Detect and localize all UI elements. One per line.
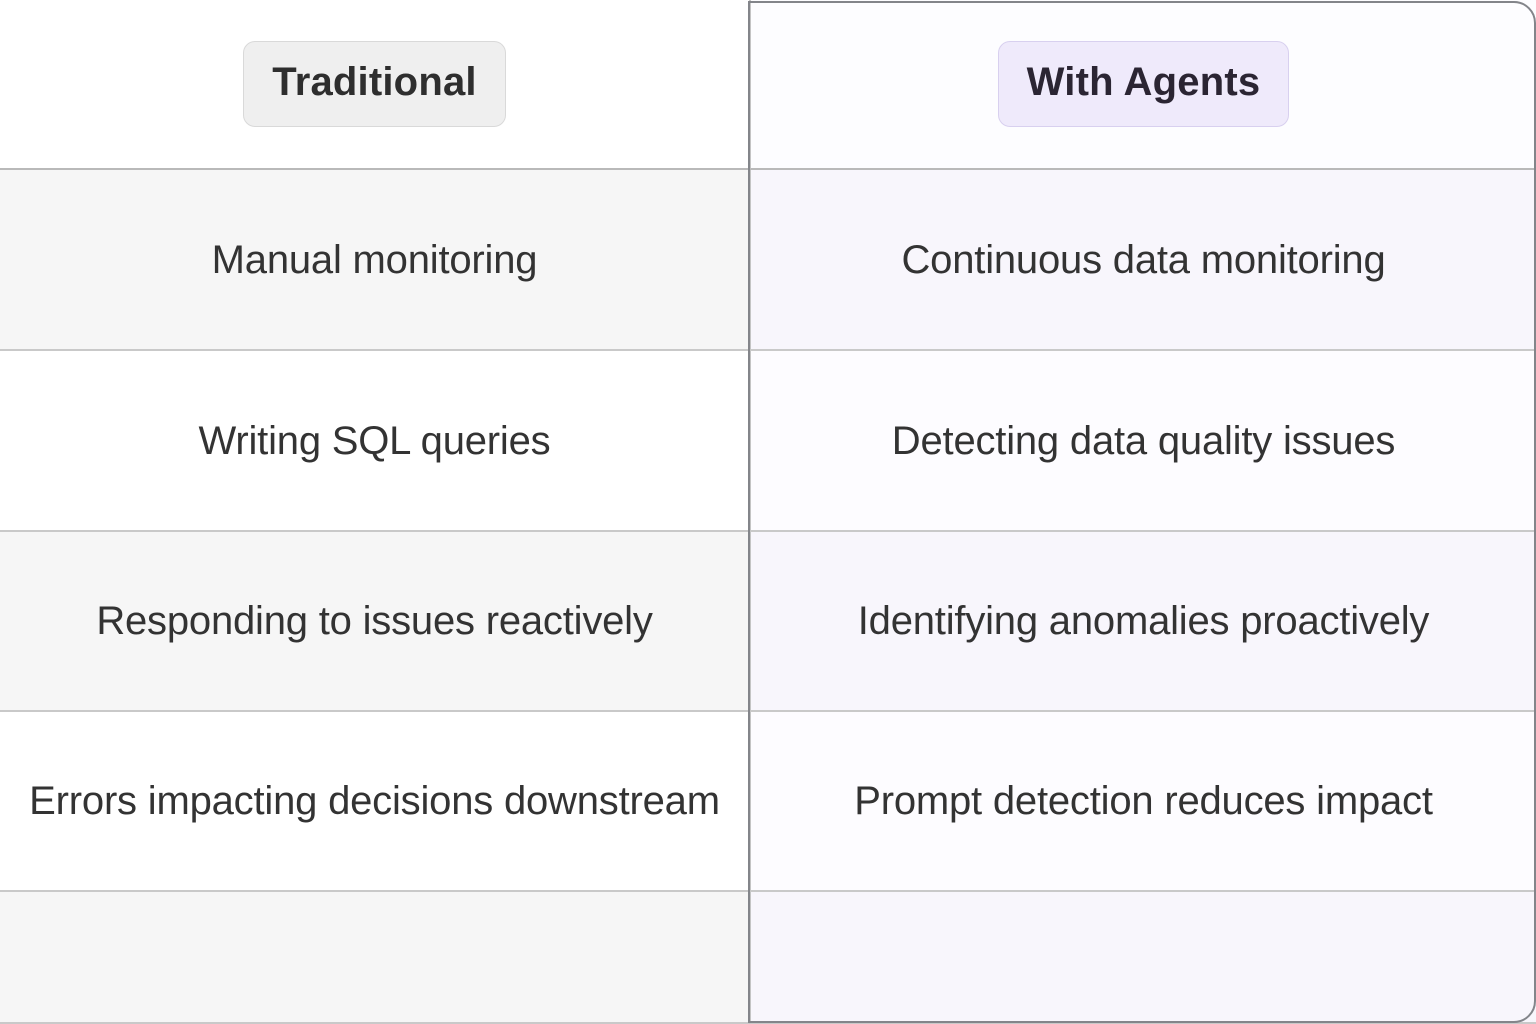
column-badge-traditional[interactable]: Traditional <box>243 41 505 127</box>
table-header-cell-traditional: Traditional <box>0 0 749 170</box>
table-grid: Traditional With Agents Manual monitorin… <box>0 0 1536 1024</box>
cell-with-agents-2: Detecting data quality issues <box>892 412 1395 470</box>
table-row: Detecting data quality issues <box>749 351 1536 532</box>
comparison-table: Traditional With Agents Manual monitorin… <box>0 0 1536 1024</box>
table-row <box>749 892 1536 1024</box>
table-row: Writing SQL queries <box>0 351 749 532</box>
cell-with-agents-4: Prompt detection reduces impact <box>854 772 1433 830</box>
table-row: Identifying anomalies proactively <box>749 532 1536 712</box>
cell-traditional-4: Errors impacting decisions downstream <box>29 772 720 830</box>
cell-traditional-2: Writing SQL queries <box>199 412 551 470</box>
cell-traditional-1: Manual monitoring <box>212 231 538 289</box>
table-row: Manual monitoring <box>0 170 749 351</box>
cell-with-agents-1: Continuous data monitoring <box>902 231 1386 289</box>
column-badge-with-agents[interactable]: With Agents <box>998 41 1290 127</box>
table-header-cell-with-agents: With Agents <box>749 0 1536 170</box>
table-row: Errors impacting decisions downstream <box>0 712 749 892</box>
cell-with-agents-3: Identifying anomalies proactively <box>858 592 1430 650</box>
table-row: Responding to issues reactively <box>0 532 749 712</box>
table-row: Continuous data monitoring <box>749 170 1536 351</box>
cell-traditional-3: Responding to issues reactively <box>96 592 652 650</box>
table-row: Prompt detection reduces impact <box>749 712 1536 892</box>
table-row <box>0 892 749 1024</box>
